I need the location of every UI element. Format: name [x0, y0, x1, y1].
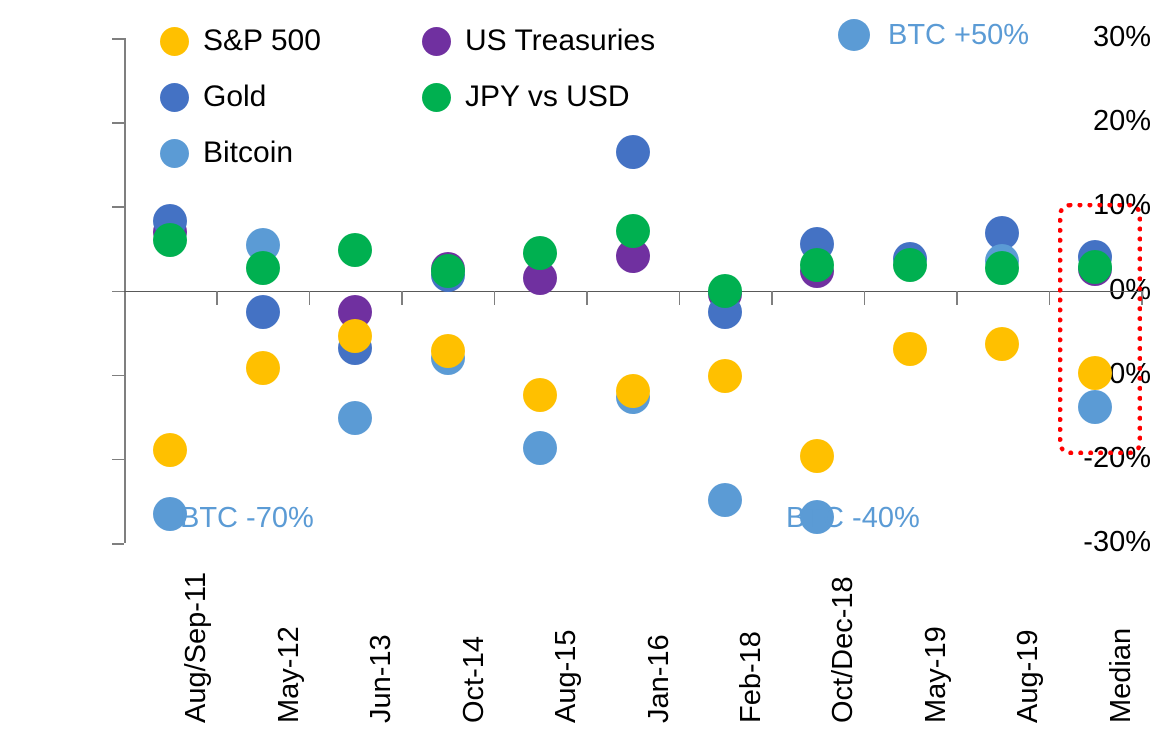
x-axis-label: Median: [1107, 628, 1136, 723]
annotation-btc-minus-40: BTC -40%: [786, 504, 920, 533]
legend-label-gold: Gold: [203, 82, 266, 112]
annotation-btc-plus-50: BTC +50%: [888, 21, 1029, 50]
x-axis-label: Aug/Sep-11: [182, 572, 211, 723]
x-axis-label: Oct/Dec-18: [829, 576, 858, 723]
legend-item-us-treasuries[interactable]: US Treasuries: [422, 26, 655, 56]
x-axis-label: Aug-15: [552, 629, 581, 723]
legend-swatch-jpy-vs-usd: [422, 83, 451, 112]
legend-label-bitcoin: Bitcoin: [203, 138, 293, 168]
legend-swatch-bitcoin: [160, 139, 189, 168]
x-axis-label: Oct-14: [460, 636, 489, 723]
legend-label-jpy-vs-usd: JPY vs USD: [465, 82, 630, 112]
legend-item-bitcoin[interactable]: Bitcoin: [160, 138, 293, 168]
legend-label-sp500: S&P 500: [203, 26, 321, 56]
scatter-chart: 30%20%10%0%-10%-20%-30% Aug/Sep-11May-12…: [0, 0, 1151, 739]
x-axis-label: Feb-18: [737, 631, 766, 723]
legend-label-us-treasuries: US Treasuries: [465, 26, 655, 56]
x-axis-label: May-19: [922, 626, 951, 723]
legend-item-sp500[interactable]: S&P 500: [160, 26, 321, 56]
btc-plus-50-marker-icon: [838, 19, 870, 51]
legend-swatch-us-treasuries: [422, 27, 451, 56]
x-axis-label: Jun-13: [367, 634, 396, 723]
legend-item-jpy-vs-usd[interactable]: JPY vs USD: [422, 82, 630, 112]
legend-swatch-sp500: [160, 27, 189, 56]
legend-item-gold[interactable]: Gold: [160, 82, 266, 112]
x-axis-label: Jan-16: [645, 634, 674, 723]
x-axis-label: Aug-19: [1014, 629, 1043, 723]
x-axis-label: May-12: [275, 626, 304, 723]
annotation-btc-minus-70: BTC -70%: [180, 504, 314, 533]
legend-swatch-gold: [160, 83, 189, 112]
